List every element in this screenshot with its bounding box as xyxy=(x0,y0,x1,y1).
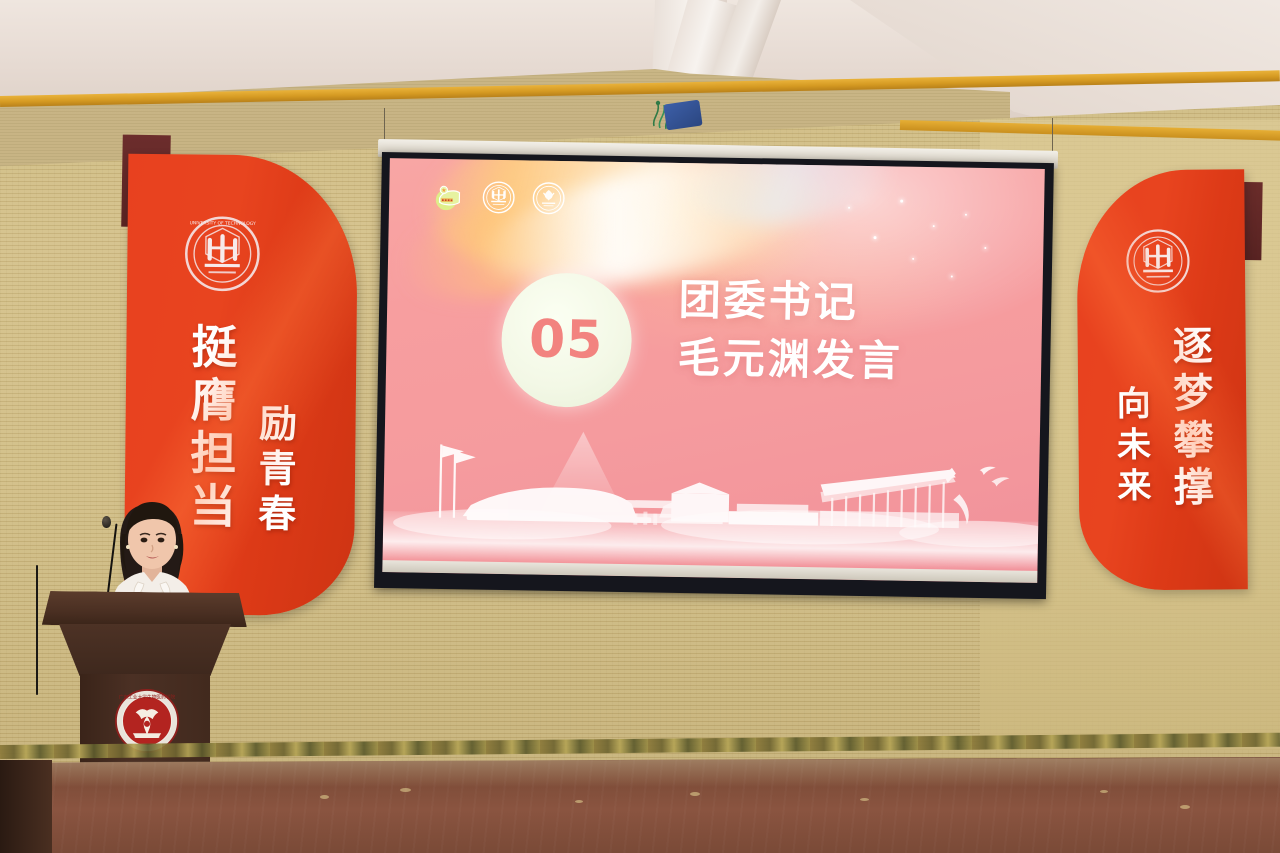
slide-surface: 05 团委书记 毛元渊发言 xyxy=(382,158,1044,583)
floor-speck xyxy=(1100,790,1108,793)
microphone-head-icon xyxy=(102,516,111,528)
sparkle-dot xyxy=(873,237,876,240)
stage-left-edge-shadow xyxy=(0,760,52,853)
svg-text:UNIVERSITY OF TECHNOLOGY: UNIVERSITY OF TECHNOLOGY xyxy=(190,220,257,227)
guangdong-university-of-technology-seal-icon xyxy=(481,180,515,214)
floor-speck xyxy=(400,788,411,792)
slide-title: 团委书记 毛元渊发言 xyxy=(677,271,904,391)
slide-number-text: 05 xyxy=(529,313,604,366)
slide-title-line2: 毛元渊发言 xyxy=(677,329,903,391)
communist-youth-league-emblem-icon xyxy=(431,180,465,214)
sparkle-dot xyxy=(912,258,914,260)
slide-ribbon-cool xyxy=(687,158,892,234)
stage-floor xyxy=(0,757,1280,853)
banner-right-main-text: 逐梦攀撑 xyxy=(1160,325,1220,513)
podium-top-surface xyxy=(42,591,247,627)
floor-speck xyxy=(575,800,583,803)
floor-speck xyxy=(860,798,869,801)
auditorium-scene: 05 团委书记 毛元渊发言 UNIVERSITY OF TECHNOLOGY 挺… xyxy=(0,0,1280,853)
sparkle-dot xyxy=(951,275,953,277)
banner-left-university-seal-icon: UNIVERSITY OF TECHNOLOGY xyxy=(183,214,262,293)
floor-speck xyxy=(690,792,700,796)
slide-emblem-row xyxy=(431,180,565,215)
floor-speck xyxy=(320,795,329,799)
banner-right: 逐梦攀撑 向未来 xyxy=(1076,169,1248,590)
banner-right-university-seal-icon xyxy=(1125,228,1192,295)
banner-left-sub-text: 励青春 xyxy=(246,403,302,539)
podium-upper-body xyxy=(59,624,231,676)
school-of-biomedical-seal-icon xyxy=(531,181,565,215)
projection-screen: 05 团委书记 毛元渊发言 xyxy=(374,152,1054,599)
campus-skyline-illustration xyxy=(383,419,1040,571)
microphone-cable xyxy=(36,565,38,695)
sparkle-dot xyxy=(984,247,986,249)
sparkle-dot xyxy=(965,213,967,215)
slide-number-badge: 05 xyxy=(500,272,632,408)
sparkle-dot xyxy=(900,200,903,203)
slide-title-line1: 团委书记 xyxy=(678,271,904,333)
sparkle-dot xyxy=(848,207,850,209)
banner-right-sub-text: 向未来 xyxy=(1106,385,1156,508)
sparkle-dot xyxy=(932,225,934,227)
ceiling-junction-box xyxy=(663,100,702,131)
floor-speck xyxy=(1180,805,1190,809)
